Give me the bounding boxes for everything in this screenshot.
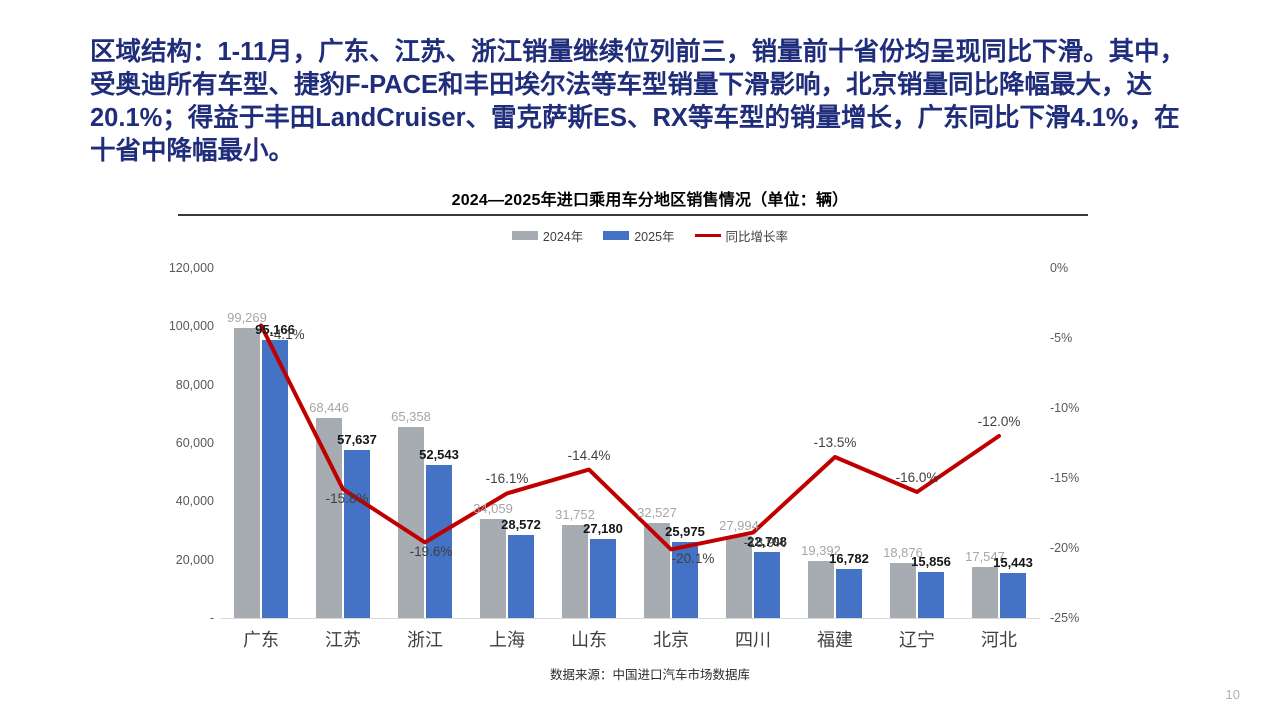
y-axis-left-tick-label: 60,000 bbox=[134, 436, 214, 450]
bar-2024[interactable] bbox=[480, 519, 506, 618]
bar-value-label-2024: 32,527 bbox=[612, 505, 702, 520]
category-label: 福建 bbox=[790, 626, 880, 652]
bar-2025[interactable] bbox=[836, 569, 862, 618]
bar-2024[interactable] bbox=[808, 561, 834, 618]
chart-container: 2024—2025年进口乘用车分地区销售情况（单位：辆） 2024年 2025年… bbox=[150, 186, 1150, 686]
bar-2025[interactable] bbox=[918, 572, 944, 618]
bar-group bbox=[562, 268, 616, 618]
bar-2025[interactable] bbox=[754, 552, 780, 618]
y-axis-right-tick-label: -10% bbox=[1050, 401, 1130, 415]
bar-2024[interactable] bbox=[562, 525, 588, 618]
plot-wrapper: -20,00040,00060,00080,000100,000120,0000… bbox=[150, 254, 1150, 654]
y-axis-right-tick-label: 0% bbox=[1050, 261, 1130, 275]
bar-group bbox=[398, 268, 452, 618]
bar-value-label-2024: 27,994 bbox=[694, 518, 784, 533]
y-axis-left-tick-label: 40,000 bbox=[134, 494, 214, 508]
bar-value-label-2025: 27,180 bbox=[558, 521, 648, 536]
bar-2025[interactable] bbox=[590, 539, 616, 618]
legend-item-2025[interactable]: 2025年 bbox=[603, 226, 674, 245]
bar-2024[interactable] bbox=[890, 563, 916, 618]
bar-2024[interactable] bbox=[316, 418, 342, 618]
growth-rate-label: -16.0% bbox=[872, 470, 962, 485]
category-label: 上海 bbox=[462, 626, 552, 652]
growth-rate-label: -18.9% bbox=[720, 535, 810, 550]
bar-value-label-2024: 65,358 bbox=[366, 409, 456, 424]
category-label: 山东 bbox=[544, 626, 634, 652]
y-axis-right-tick-label: -20% bbox=[1050, 541, 1130, 555]
bar-2025[interactable] bbox=[262, 340, 288, 618]
bar-value-label-2024: 34,059 bbox=[448, 501, 538, 516]
bar-2025[interactable] bbox=[344, 450, 370, 618]
growth-rate-label: -19.6% bbox=[386, 544, 476, 559]
growth-rate-label: -13.5% bbox=[790, 435, 880, 450]
bar-2025[interactable] bbox=[508, 535, 534, 618]
legend-swatch-2025 bbox=[603, 231, 629, 240]
y-axis-right-tick-label: -5% bbox=[1050, 331, 1130, 345]
bar-value-label-2025: 52,543 bbox=[394, 447, 484, 462]
legend-item-2024[interactable]: 2024年 bbox=[512, 226, 583, 245]
category-label: 河北 bbox=[954, 626, 1044, 652]
growth-rate-label: -14.4% bbox=[544, 448, 634, 463]
y-axis-left-tick-label: 120,000 bbox=[134, 261, 214, 275]
category-label: 北京 bbox=[626, 626, 716, 652]
legend-label-growth-rate: 同比增长率 bbox=[726, 226, 789, 245]
category-label: 江苏 bbox=[298, 626, 388, 652]
y-axis-left-tick-label: 20,000 bbox=[134, 553, 214, 567]
y-axis-left-tick-label: - bbox=[134, 611, 214, 625]
bar-2025[interactable] bbox=[426, 465, 452, 618]
page-number: 10 bbox=[1226, 687, 1240, 702]
growth-rate-label: -15.8% bbox=[302, 491, 392, 506]
category-label: 辽宁 bbox=[872, 626, 962, 652]
bar-2025[interactable] bbox=[1000, 573, 1026, 618]
slide-headline: 区域结构：1-11月，广东、江苏、浙江销量继续位列前三，销量前十省份均呈现同比下… bbox=[90, 36, 1192, 168]
bar-value-label-2025: 15,443 bbox=[968, 555, 1058, 570]
category-label: 浙江 bbox=[380, 626, 470, 652]
chart-title-rule bbox=[178, 214, 1088, 216]
category-label: 四川 bbox=[708, 626, 798, 652]
legend-item-growth-rate[interactable]: 同比增长率 bbox=[695, 226, 789, 245]
bar-value-label-2025: 57,637 bbox=[312, 432, 402, 447]
bar-group bbox=[480, 268, 534, 618]
growth-rate-label: -12.0% bbox=[954, 414, 1044, 429]
legend-swatch-2024 bbox=[512, 231, 538, 240]
legend-label-2024: 2024年 bbox=[543, 226, 583, 245]
growth-rate-label: -20.1% bbox=[648, 551, 738, 566]
y-axis-left-tick-label: 80,000 bbox=[134, 378, 214, 392]
y-axis-right-tick-label: -15% bbox=[1050, 471, 1130, 485]
legend-swatch-growth-rate bbox=[695, 234, 721, 237]
source-note: 数据来源：中国进口汽车市场数据库 bbox=[150, 664, 1150, 683]
bar-2024[interactable] bbox=[972, 567, 998, 618]
category-axis-line bbox=[220, 618, 1040, 619]
y-axis-right-tick-label: -25% bbox=[1050, 611, 1130, 625]
bar-value-label-2024: 68,446 bbox=[284, 400, 374, 415]
legend-label-2025: 2025年 bbox=[634, 226, 674, 245]
chart-title: 2024—2025年进口乘用车分地区销售情况（单位：辆） bbox=[150, 186, 1150, 210]
bar-2024[interactable] bbox=[234, 328, 260, 618]
chart-legend: 2024年 2025年 同比增长率 bbox=[150, 226, 1150, 245]
growth-rate-label: -4.1% bbox=[242, 327, 332, 342]
growth-rate-label: -16.1% bbox=[462, 471, 552, 486]
category-label: 广东 bbox=[216, 626, 306, 652]
